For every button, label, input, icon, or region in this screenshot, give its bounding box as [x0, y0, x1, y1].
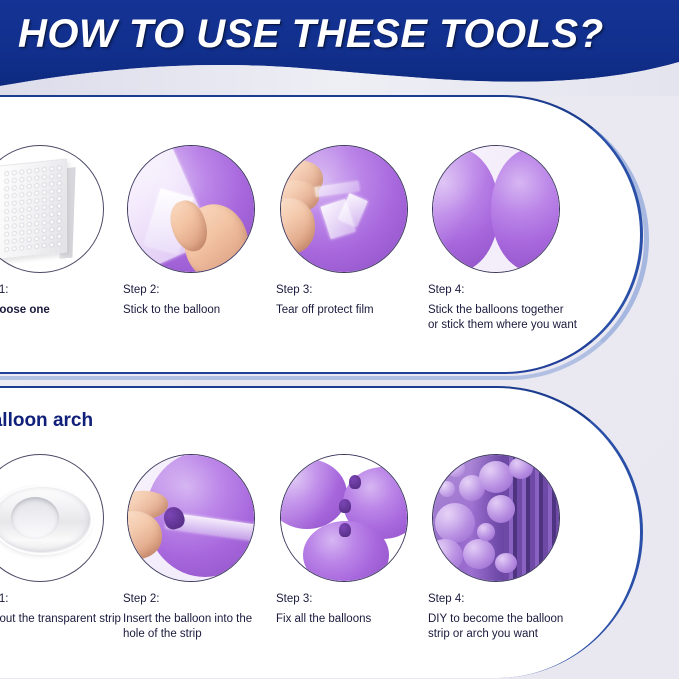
page-root: HOW TO USE THESE TOOLS? [0, 0, 679, 679]
step-image-1-4 [432, 145, 560, 273]
finished-arch-icon [433, 455, 559, 581]
step-image-2-2 [127, 454, 255, 582]
step-number: Step 3: [276, 283, 426, 299]
page-header: HOW TO USE THESE TOOLS? [0, 0, 679, 96]
three-balloons-icon [281, 455, 407, 581]
step-number: Step 2: [123, 283, 273, 299]
step-list-1: Step 1: Choose one [0, 97, 600, 372]
step-image-1-2 [127, 145, 255, 273]
step-description: Take out the transparent strip [0, 612, 122, 628]
step-description: Stick the balloons together [428, 303, 578, 319]
step-card-1-2: Step 2: Stick to the balloon [123, 145, 273, 318]
transparent-tape-roll-icon [0, 455, 103, 581]
step-card-1-4: Step 4: Stick the balloons together or s… [428, 145, 578, 334]
insert-balloon-icon [128, 455, 254, 581]
instruction-panel-1: Step 1: Choose one [0, 95, 643, 374]
step-description-line2: or stick them where you want [428, 318, 578, 334]
step-card-2-2: Step 2: Insert the balloon into the hole… [123, 454, 273, 643]
step-image-1-1 [0, 145, 104, 273]
step-number: Step 2: [123, 592, 273, 608]
step-description: Insert the balloon into the [123, 612, 273, 628]
step-description: Fix all the balloons [276, 612, 426, 628]
step-number: Step 1: [0, 592, 122, 608]
peeling-film-icon [281, 146, 407, 272]
step-description: DIY to become the balloon [428, 612, 578, 628]
step-card-1-1: Step 1: Choose one [0, 145, 122, 318]
two-balloons-icon [433, 146, 559, 272]
step-image-2-4 [432, 454, 560, 582]
step-card-2-1: Step 1: Take out the transparent strip [0, 454, 122, 627]
step-card-2-3: Step 3: Fix all the balloons [276, 454, 426, 627]
step-number: Step 4: [428, 283, 578, 299]
step-card-1-3: Step 3: Tear off protect film [276, 145, 426, 318]
step-list-2: Step 1: Take out the transparent strip [0, 388, 600, 678]
step-image-1-3 [280, 145, 408, 273]
step-number: Step 1: [0, 283, 122, 299]
glue-dot-sheet-icon [0, 146, 103, 272]
step-image-2-3 [280, 454, 408, 582]
step-image-2-1 [0, 454, 104, 582]
step-description-line2: hole of the strip [123, 627, 273, 643]
step-description: Choose one [0, 303, 122, 319]
hand-sticking-strip-icon [128, 146, 254, 272]
step-description: Tear off protect film [276, 303, 426, 319]
step-description-line2: strip or arch you want [428, 627, 578, 643]
page-title: HOW TO USE THESE TOOLS? [18, 12, 668, 57]
step-description: Stick to the balloon [123, 303, 273, 319]
step-number: Step 3: [276, 592, 426, 608]
instruction-panel-2: Balloon arch Step 1: [0, 386, 643, 678]
step-card-2-4: Step 4: DIY to become the balloon strip … [428, 454, 578, 643]
step-number: Step 4: [428, 592, 578, 608]
